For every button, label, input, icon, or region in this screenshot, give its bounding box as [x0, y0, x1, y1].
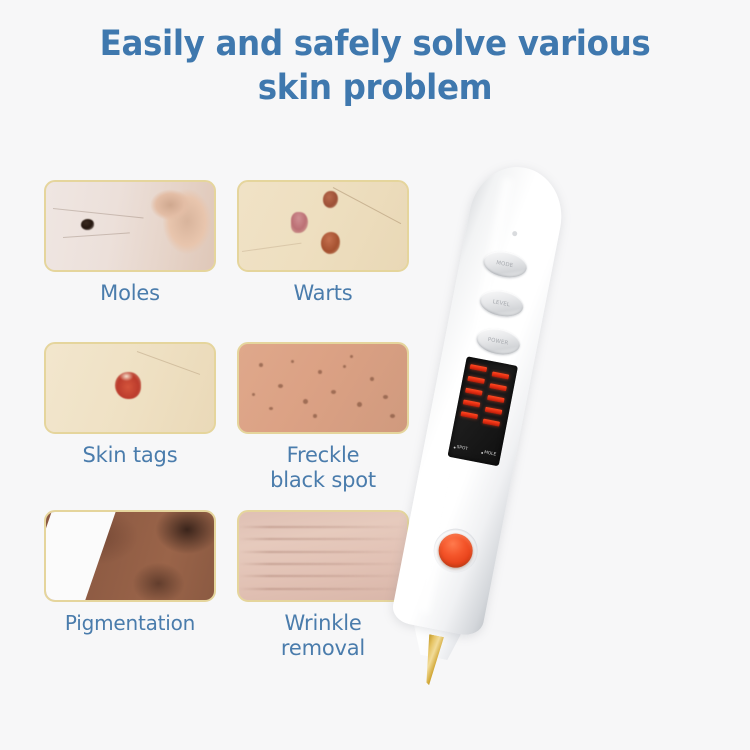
- level-bar-column-right: [481, 371, 510, 435]
- display-label-right-text: MOLE: [484, 451, 497, 458]
- freckles-dark-spots-photo: [239, 344, 407, 432]
- condition-label-warts: Warts: [237, 281, 409, 306]
- level-bar: [465, 388, 483, 396]
- level-bar: [487, 395, 505, 403]
- wart-lesion: [291, 212, 308, 233]
- level-bar: [467, 376, 485, 384]
- mode-button-label: MODE: [496, 260, 514, 269]
- display-label-left: SPOT: [453, 445, 468, 452]
- condition-card-moles: Moles: [44, 180, 216, 306]
- pigmented-skin-photo: [46, 512, 214, 600]
- condition-label-wrinkle-line1: Wrinkleremoval: [237, 611, 409, 661]
- level-indicator-bars: [459, 364, 512, 433]
- skin-tag-spot: [115, 372, 141, 399]
- skin-tag-lesion-photo: [46, 344, 214, 432]
- display-label-right: MOLE: [481, 450, 497, 458]
- level-bar: [470, 364, 488, 372]
- condition-label-wrinkle: Wrinkleremoval: [237, 611, 409, 661]
- condition-label-pigmentation: Pigmentation: [44, 611, 216, 636]
- page-title: Easily and safely solve various skin pro…: [0, 22, 750, 110]
- mole-on-cheek-photo: [46, 182, 214, 270]
- condition-card-skin-tags: Skin tags: [44, 342, 216, 468]
- level-bar: [485, 407, 503, 415]
- condition-label-skin-tags: Skin tags: [44, 443, 216, 468]
- power-button-label: POWER: [487, 336, 509, 346]
- level-bar: [489, 383, 507, 391]
- product-image-plasma-pen: MODE LEVEL POWER: [452, 155, 742, 685]
- condition-card-wrinkle: Wrinkleremoval: [237, 510, 409, 661]
- condition-label-freckle-line1: Freckleblack spot: [237, 443, 409, 493]
- product-infographic: Easily and safely solve various skin pro…: [0, 0, 750, 750]
- wrinkled-skin-photo: [239, 512, 407, 600]
- level-bar: [463, 399, 481, 407]
- condition-card-freckle: Freckleblack spot: [237, 342, 409, 493]
- shadow-area: [133, 563, 183, 602]
- condition-label-freckle: Freckleblack spot: [237, 443, 409, 493]
- condition-thumbnail-warts: [237, 180, 409, 272]
- page-title-line-1: Easily and safely solve various: [26, 22, 724, 66]
- level-bar: [460, 411, 478, 419]
- mole-spot: [81, 219, 94, 230]
- condition-thumbnail-wrinkle: [237, 510, 409, 602]
- wart-lesion: [323, 191, 338, 208]
- condition-card-pigmentation: Pigmentation: [44, 510, 216, 636]
- condition-thumbnail-skin-tags: [44, 342, 216, 434]
- warts-on-skin-photo: [239, 182, 407, 270]
- level-bar: [482, 419, 500, 427]
- plasma-beauty-pen: MODE LEVEL POWER: [390, 159, 570, 638]
- page-title-line-2: skin problem: [26, 66, 724, 110]
- wart-lesion: [321, 232, 340, 254]
- display-mode-labels: SPOT MOLE: [453, 444, 497, 457]
- condition-thumbnail-moles: [44, 180, 216, 272]
- level-bar: [492, 371, 510, 379]
- condition-thumbnail-freckle: [237, 342, 409, 434]
- level-button-label: LEVEL: [493, 299, 511, 309]
- condition-label-moles: Moles: [44, 281, 216, 306]
- background-highlight: [44, 510, 117, 602]
- display-label-left-text: SPOT: [456, 445, 468, 452]
- condition-card-warts: Warts: [237, 180, 409, 306]
- condition-thumbnail-pigmentation: [44, 510, 216, 602]
